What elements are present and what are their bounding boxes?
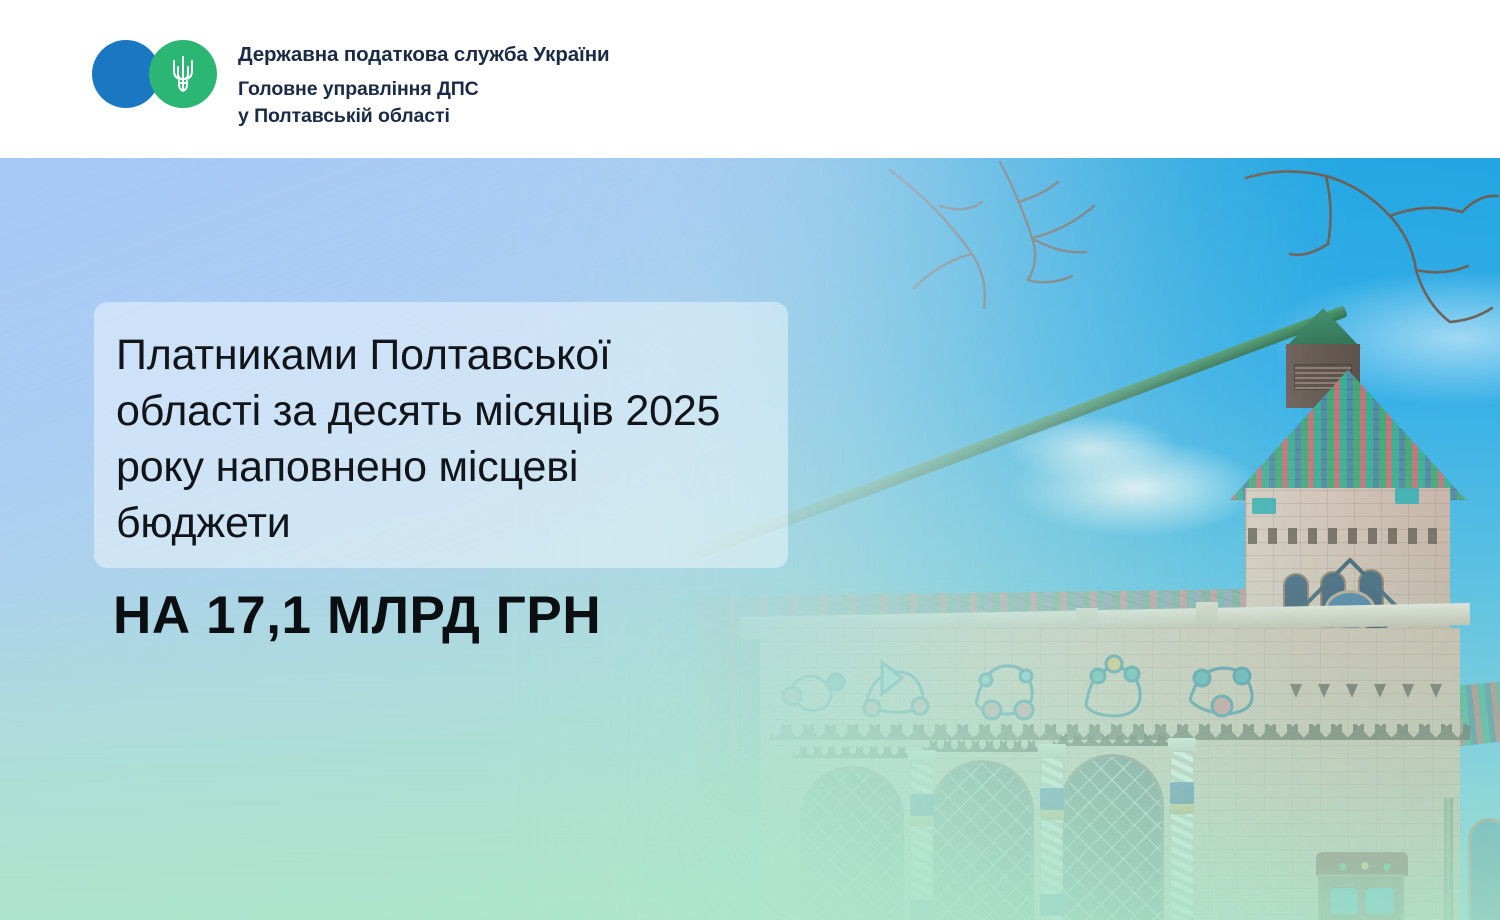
organization-logo-block: Державна податкова служба України Головн… xyxy=(92,38,610,131)
poster-stage: Платниками Полтавської області за десять… xyxy=(0,158,1500,920)
org-line-2: Головне управління ДПС xyxy=(238,76,610,104)
org-line-3: у Полтавській області xyxy=(238,103,610,131)
green-circle-icon xyxy=(149,40,217,108)
headline-text: Платниками Полтавської області за десять… xyxy=(116,328,762,552)
header-bar: Державна податкова служба України Головн… xyxy=(0,0,1500,158)
organization-name: Державна податкова служба України Головн… xyxy=(238,38,610,131)
text-layer: Платниками Полтавської області за десять… xyxy=(0,158,1500,920)
org-line-1: Державна податкова служба України xyxy=(238,41,610,69)
logo-marks xyxy=(92,38,228,108)
amount-highlight: НА 17,1 МЛРД ГРН xyxy=(113,588,601,644)
ukraine-trident-icon xyxy=(168,54,198,94)
headline-panel: Платниками Полтавської області за десять… xyxy=(94,302,788,568)
poster-canvas: Державна податкова служба України Головн… xyxy=(0,0,1500,920)
